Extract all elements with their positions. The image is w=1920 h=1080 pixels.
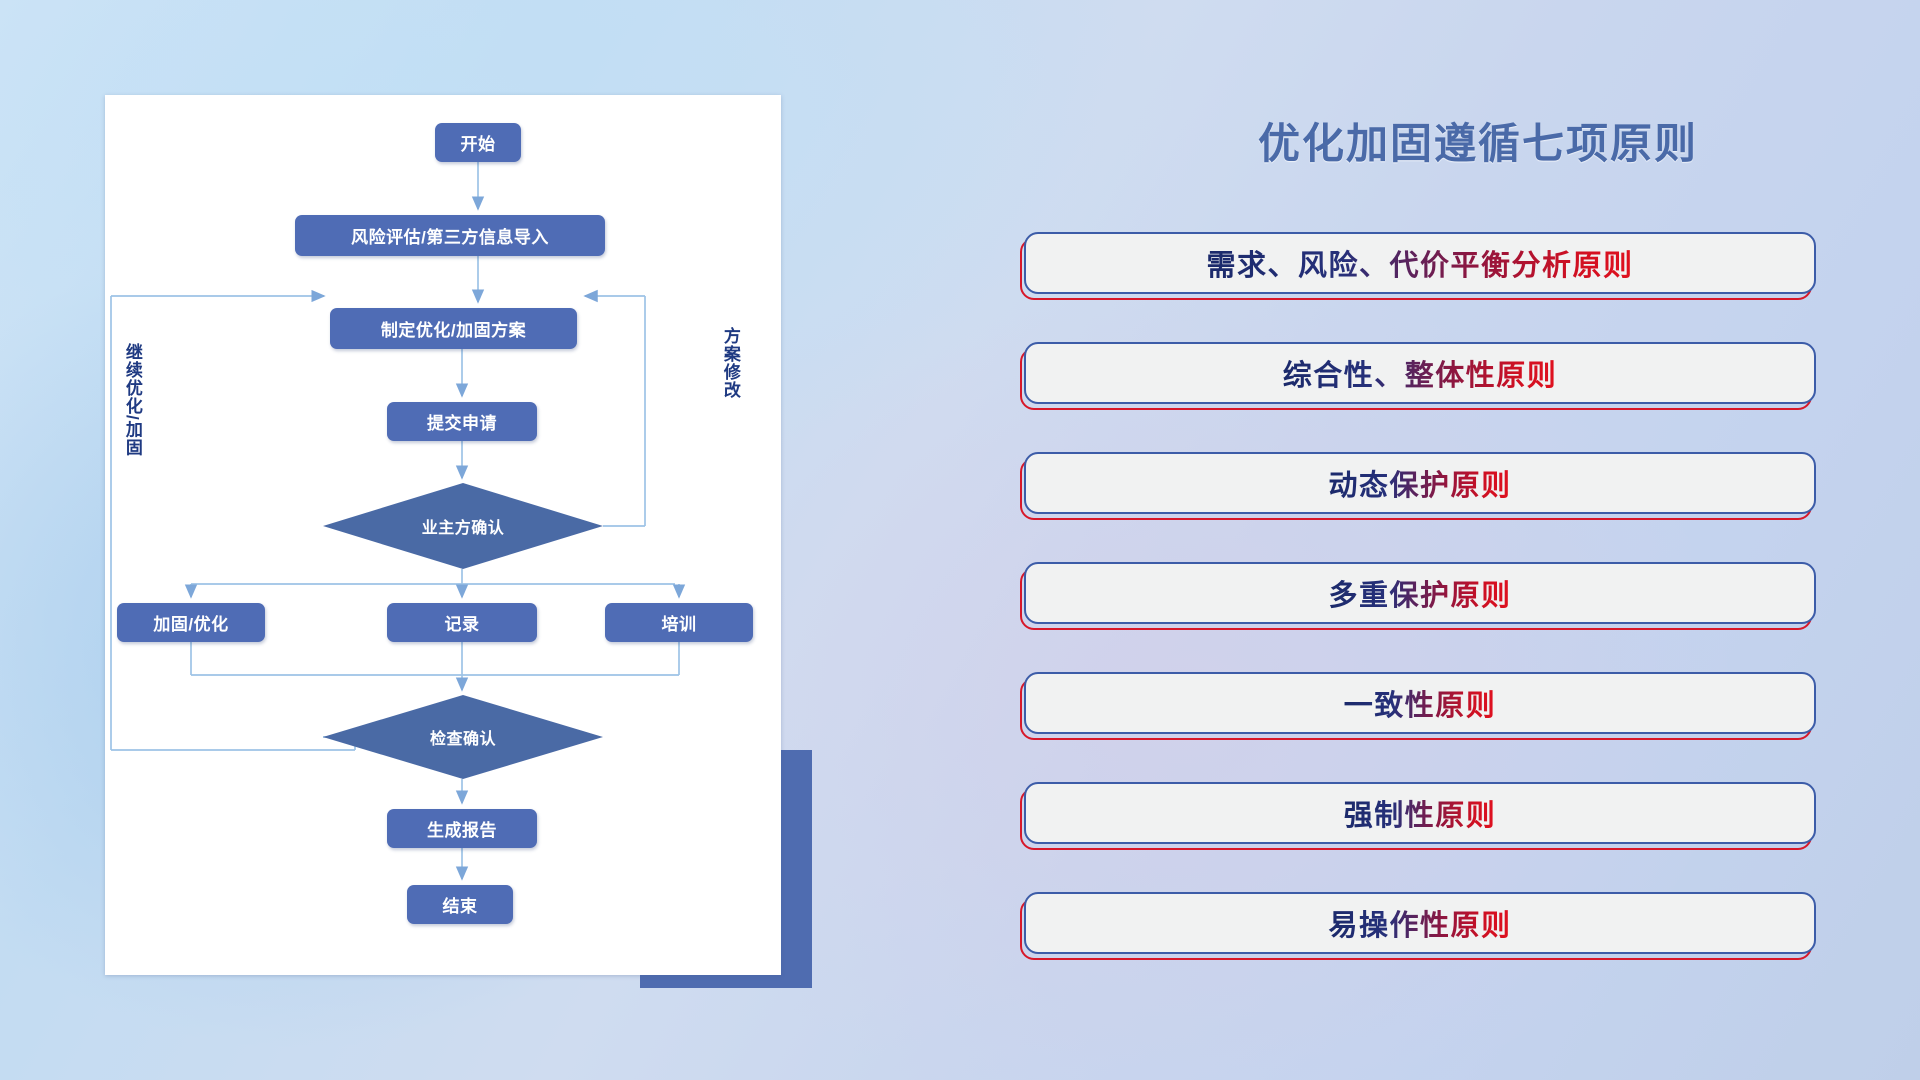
- principle-card[interactable]: 多重保护原则: [1020, 562, 1920, 630]
- card-body[interactable]: 多重保护原则: [1024, 562, 1816, 624]
- card-body[interactable]: 综合性、整体性原则: [1024, 342, 1816, 404]
- principle-card[interactable]: 易操作性原则: [1020, 892, 1920, 960]
- principle-label: 动态保护原则: [1328, 462, 1511, 504]
- principle-card[interactable]: 动态保护原则: [1020, 452, 1920, 520]
- edge-label-continue-optimize: 继续优化/加固: [123, 343, 141, 457]
- card-body[interactable]: 需求、风险、代价平衡分析原则: [1024, 232, 1816, 294]
- flow-node-record[interactable]: 记录: [387, 603, 537, 642]
- flow-node-training[interactable]: 培训: [605, 603, 753, 642]
- principles-list: 需求、风险、代价平衡分析原则 综合性、整体性原则 动态保护原则 多重保护原则 一: [1020, 232, 1920, 1002]
- principle-label: 强制性原则: [1344, 792, 1497, 834]
- card-body[interactable]: 易操作性原则: [1024, 892, 1816, 954]
- principle-label: 易操作性原则: [1328, 902, 1511, 944]
- card-body[interactable]: 强制性原则: [1024, 782, 1816, 844]
- flow-node-label: 结束: [443, 892, 478, 917]
- flow-node-end[interactable]: 结束: [407, 885, 513, 924]
- flowchart-canvas: 开始 风险评估/第三方信息导入 制定优化/加固方案 提交申请 业主方确认 加固/…: [105, 95, 781, 975]
- principle-card[interactable]: 一致性原则: [1020, 672, 1920, 740]
- flow-node-inspection-confirm[interactable]: 检查确认: [323, 695, 603, 779]
- principle-label: 多重保护原则: [1328, 572, 1511, 614]
- flow-node-label: 业主方确认: [422, 514, 505, 538]
- principle-label: 综合性、整体性原则: [1283, 352, 1558, 394]
- principles-title: 优化加固遵循七项原则: [1148, 110, 1808, 171]
- flow-node-reinforce-optimize[interactable]: 加固/优化: [117, 603, 265, 642]
- flow-node-plan[interactable]: 制定优化/加固方案: [330, 308, 577, 349]
- flow-node-owner-confirm[interactable]: 业主方确认: [323, 483, 603, 569]
- flow-node-label: 加固/优化: [153, 610, 228, 635]
- principles-panel: 优化加固遵循七项原则 需求、风险、代价平衡分析原则 综合性、整体性原则 动态保护…: [1020, 0, 1920, 1080]
- edge-label-plan-revision: 方案修改: [721, 327, 739, 399]
- flow-node-label: 检查确认: [430, 725, 496, 749]
- flow-node-start[interactable]: 开始: [435, 123, 521, 162]
- flow-node-label: 提交申请: [427, 409, 497, 434]
- flow-node-label: 生成报告: [427, 816, 497, 841]
- principle-label: 一致性原则: [1344, 682, 1497, 724]
- flow-node-label: 风险评估/第三方信息导入: [351, 223, 549, 248]
- principle-card[interactable]: 需求、风险、代价平衡分析原则: [1020, 232, 1920, 300]
- principle-card[interactable]: 强制性原则: [1020, 782, 1920, 850]
- principle-card[interactable]: 综合性、整体性原则: [1020, 342, 1920, 410]
- card-body[interactable]: 一致性原则: [1024, 672, 1816, 734]
- flowchart-panel: 开始 风险评估/第三方信息导入 制定优化/加固方案 提交申请 业主方确认 加固/…: [105, 95, 781, 975]
- flow-node-label: 制定优化/加固方案: [381, 316, 526, 341]
- flow-node-label: 开始: [461, 130, 496, 155]
- flow-node-generate-report[interactable]: 生成报告: [387, 809, 537, 848]
- flow-node-label: 记录: [445, 610, 480, 635]
- flow-node-label: 培训: [662, 610, 697, 635]
- flow-node-submit-application[interactable]: 提交申请: [387, 402, 537, 441]
- card-body[interactable]: 动态保护原则: [1024, 452, 1816, 514]
- principle-label: 需求、风险、代价平衡分析原则: [1206, 242, 1633, 284]
- flow-node-risk-assessment[interactable]: 风险评估/第三方信息导入: [295, 215, 605, 256]
